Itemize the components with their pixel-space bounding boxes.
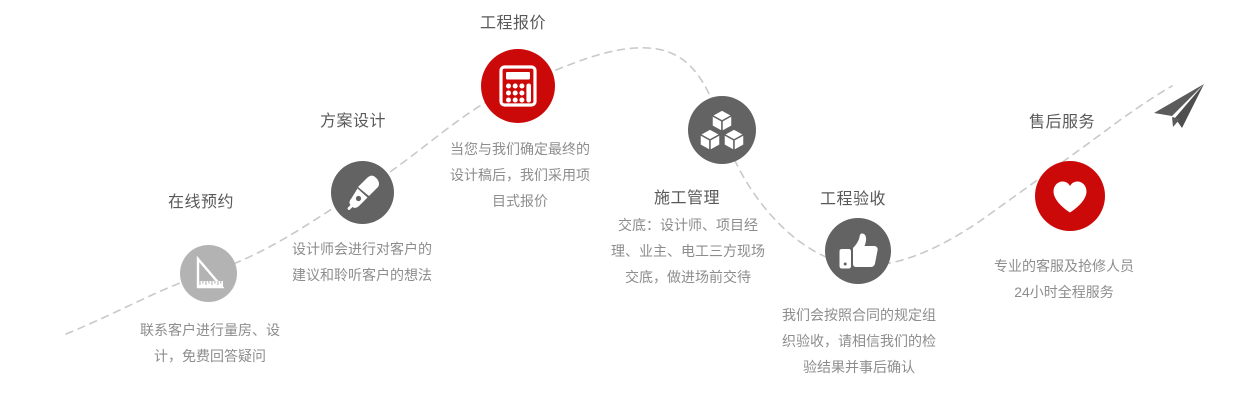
stacked-cubes-icon[interactable]	[688, 96, 756, 164]
step-6-description: 专业的客服及抢修人员24小时全程服务	[988, 253, 1140, 305]
step-4-description: 交底：设计师、项目经理、业主、电工三方现场交底，做进场前交待	[606, 212, 770, 290]
step-1-title: 在线预约	[168, 193, 234, 213]
thumbs-up-icon[interactable]	[825, 218, 891, 284]
calculator-icon[interactable]	[481, 49, 555, 123]
step-2-title: 方案设计	[320, 112, 386, 132]
step-1-description: 联系客户进行量房、设计，免费回答疑问	[140, 317, 280, 369]
step-2-description: 设计师会进行对客户的建议和聆听客户的想法	[292, 236, 432, 288]
step-3-title: 工程报价	[480, 14, 546, 34]
step-5-description: 我们会按照合同的规定组织验收，请相信我们的检验结果并事后确认	[777, 302, 941, 380]
set-square-ruler-icon[interactable]	[180, 245, 237, 302]
service-process-flow: 在线预约	[0, 0, 1245, 402]
step-4-title: 施工管理	[654, 189, 720, 209]
fountain-pen-nib-icon[interactable]	[331, 161, 394, 224]
heart-icon[interactable]	[1035, 161, 1105, 231]
step-5-title: 工程验收	[820, 190, 886, 210]
step-3-description: 当您与我们确定最终的设计稿后，我们采用项目式报价	[450, 136, 590, 214]
paper-plane-icon	[1148, 80, 1210, 132]
step-6-title: 售后服务	[1029, 113, 1095, 133]
